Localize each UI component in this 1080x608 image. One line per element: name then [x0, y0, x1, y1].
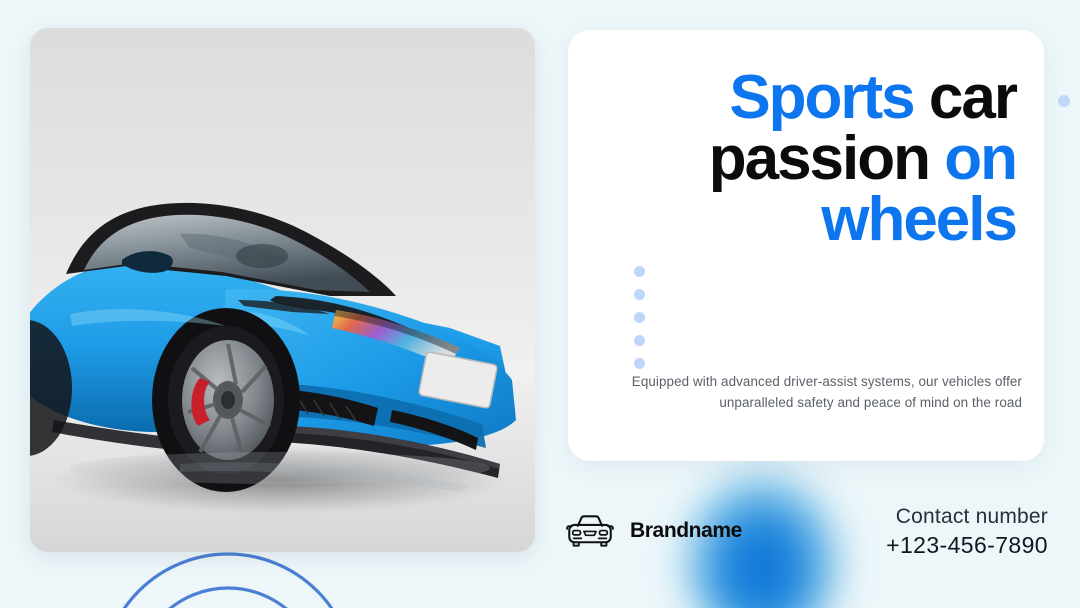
decor-dot — [634, 335, 645, 346]
page-title: Sports car passion on wheels — [598, 68, 1016, 250]
poster-canvas: Sports car passion on wheels Equipped wi… — [0, 0, 1080, 608]
decor-dot — [634, 289, 645, 300]
decor-dot — [634, 358, 645, 369]
vertical-dots-decoration — [634, 266, 645, 369]
headline-word-wheels: wheels — [821, 185, 1016, 254]
headline-word-passion: passion — [709, 124, 929, 193]
car-photo-illustration — [30, 28, 535, 552]
edge-dot-decoration — [1058, 95, 1070, 107]
decor-dot — [634, 312, 645, 323]
headline-line-1: Sports car — [598, 68, 1016, 129]
headline-word-sports: Sports — [729, 63, 913, 132]
headline-word-car: car — [929, 63, 1016, 132]
contact-number[interactable]: +123-456-7890 — [886, 532, 1048, 559]
brand-lockup: Brandname — [562, 512, 742, 550]
headline-line-3: wheels — [598, 190, 1016, 251]
headline-card: Sports car passion on wheels Equipped wi… — [568, 30, 1044, 461]
body-paragraph: Equipped with advanced driver-assist sys… — [614, 371, 1022, 413]
car-front-icon — [562, 512, 618, 550]
headline-line-2: passion on — [598, 129, 1016, 190]
contact-label: Contact number — [886, 505, 1048, 529]
car-photo-card — [30, 28, 535, 552]
headline-word-on: on — [944, 124, 1016, 193]
contact-block: Contact number +123-456-7890 — [886, 505, 1048, 559]
brand-name: Brandname — [630, 519, 742, 543]
decor-dot — [634, 266, 645, 277]
